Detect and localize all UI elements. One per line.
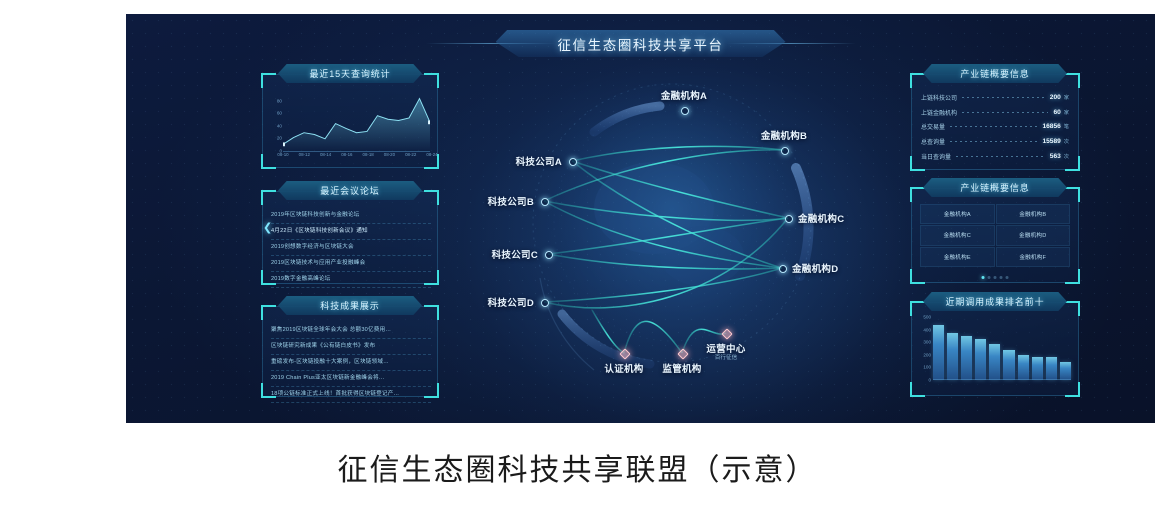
chain-summary-rows: 上链科技公司200家上链金融机构60家总交易量16856笔总查询量15589次当… bbox=[921, 90, 1069, 164]
network-node-label: 科技公司D bbox=[488, 295, 534, 309]
panel-title-recent-forums: 最近会议论坛 bbox=[278, 181, 422, 200]
summary-row: 总查询量15589次 bbox=[921, 135, 1069, 148]
bar-5 bbox=[989, 344, 1000, 380]
network-node-sublabel: 百行征信 bbox=[715, 353, 737, 361]
forum-list: 2019年区块链科技创新与金融论坛4月22日《区块链科技创新会议》通知2019创… bbox=[271, 208, 431, 279]
chain-member-cell-2[interactable]: 金融机构B bbox=[996, 204, 1071, 224]
pagination-dot-4[interactable] bbox=[1000, 276, 1003, 279]
bar-chart: 0100200300400500 bbox=[917, 317, 1073, 391]
summary-row: 总交易量16856笔 bbox=[921, 120, 1069, 133]
summary-row-unit: 家 bbox=[1064, 109, 1069, 116]
y-tick-label: 20 bbox=[277, 136, 282, 141]
summary-row-unit: 家 bbox=[1064, 94, 1069, 101]
line-chart-plot bbox=[283, 90, 430, 151]
x-tick-label: 08-20 bbox=[384, 152, 395, 157]
corner-bracket-icon bbox=[424, 305, 439, 320]
summary-row-unit: 笔 bbox=[1064, 123, 1069, 130]
network-node-label: 认证机构 bbox=[604, 361, 643, 375]
x-tick-label: 08-14 bbox=[320, 152, 331, 157]
network-node-label: 科技公司C bbox=[492, 247, 538, 261]
y-tick-label: 60 bbox=[277, 111, 282, 116]
bar-chart-plot bbox=[933, 320, 1071, 380]
y-tick-label: 200 bbox=[923, 352, 931, 357]
panel-top-ten-ranking: 近期调用成果排名前十 0100200300400500 bbox=[911, 302, 1079, 396]
list-item[interactable]: 2019数字金融高峰论坛 bbox=[271, 272, 431, 288]
leader-dots bbox=[962, 112, 1048, 113]
x-tick-label: 08-24 bbox=[426, 152, 437, 157]
network-graph-svg bbox=[444, 48, 904, 408]
corner-bracket-icon bbox=[910, 187, 925, 202]
y-tick-label: 400 bbox=[923, 327, 931, 332]
y-tick-label: 80 bbox=[277, 98, 282, 103]
network-graph: 金融机构A金融机构B科技公司A科技公司B科技公司C科技公司D金融机构C金融机构D… bbox=[444, 48, 904, 408]
x-tick-label: 08-16 bbox=[341, 152, 352, 157]
bar-6 bbox=[1003, 350, 1014, 380]
list-item[interactable]: 重磅发布-区块链投融十大案例，区块链领域… bbox=[271, 355, 431, 371]
network-node-label: 科技公司B bbox=[488, 194, 534, 208]
list-item[interactable]: 2019年区块链科技创新与金融论坛 bbox=[271, 208, 431, 224]
dashboard-canvas: 征信生态圈科技共享平台 bbox=[126, 14, 1155, 423]
list-item[interactable]: 区块链研究新成果《公有链白皮书》发布 bbox=[271, 339, 431, 355]
summary-row-value: 15589 bbox=[1042, 138, 1060, 145]
bar-3 bbox=[961, 336, 972, 380]
node-marker-icon bbox=[569, 158, 577, 166]
pagination-dot-2[interactable] bbox=[988, 276, 991, 279]
leader-dots bbox=[962, 97, 1045, 98]
line-chart-endpoint bbox=[283, 142, 285, 146]
summary-row-label: 上链科技公司 bbox=[921, 93, 957, 102]
list-item[interactable]: 2019区块链技术与应用产业投融峰会 bbox=[271, 256, 431, 272]
list-item[interactable]: 聚焦2019区块链全球年会大会 总额30亿费用… bbox=[271, 323, 431, 339]
x-tick-label: 08-22 bbox=[405, 152, 416, 157]
panel-title-chain-members: 产业链概要信息 bbox=[923, 178, 1067, 197]
line-chart-y-axis: 020406080 bbox=[268, 88, 283, 151]
bar-10 bbox=[1060, 362, 1071, 380]
node-marker-icon bbox=[681, 107, 689, 115]
leader-dots bbox=[956, 156, 1045, 157]
corner-bracket-icon bbox=[261, 73, 276, 88]
figure-caption-row: 征信生态圈科技共享联盟（示意） bbox=[0, 432, 1155, 502]
corner-bracket-icon bbox=[1065, 269, 1080, 284]
network-node-label: 金融机构C bbox=[798, 211, 844, 225]
list-item[interactable]: 2019创想数字经济与区块链大会 bbox=[271, 240, 431, 256]
tech-list: 聚焦2019区块链全球年会大会 总额30亿费用…区块链研究新成果《公有链白皮书》… bbox=[271, 323, 431, 392]
corner-bracket-icon bbox=[910, 73, 925, 88]
network-node-label: 金融机构A bbox=[661, 88, 707, 102]
bar-4 bbox=[975, 339, 986, 380]
node-marker-icon bbox=[541, 198, 549, 206]
bar-2 bbox=[947, 333, 958, 380]
node-marker-icon bbox=[779, 265, 787, 273]
leader-dots bbox=[950, 141, 1037, 142]
list-item[interactable]: 18项公链标准正式上线！首批获得区块链登记产… bbox=[271, 387, 431, 403]
summary-row-value: 16856 bbox=[1042, 123, 1060, 130]
summary-row: 上链科技公司200家 bbox=[921, 91, 1069, 104]
network-node-label: 金融机构D bbox=[792, 261, 838, 275]
line-chart-svg bbox=[283, 90, 430, 151]
bar-chart-y-axis: 0100200300400500 bbox=[917, 317, 932, 380]
pagination-dot-1[interactable] bbox=[982, 276, 985, 279]
corner-bracket-icon bbox=[261, 305, 276, 320]
line-chart-endpoint bbox=[428, 120, 430, 124]
line-chart-area bbox=[283, 99, 430, 151]
line-chart: 020406080 bbox=[268, 88, 432, 164]
corner-bracket-icon bbox=[424, 73, 439, 88]
leader-dots bbox=[950, 126, 1037, 127]
y-tick-label: 40 bbox=[277, 123, 282, 128]
corner-bracket-icon bbox=[910, 269, 925, 284]
grid-pagination[interactable] bbox=[982, 276, 1009, 279]
pagination-dot-3[interactable] bbox=[994, 276, 997, 279]
summary-row-unit: 次 bbox=[1064, 138, 1069, 145]
panel-chain-members: 产业链概要信息 金融机构A金融机构B金融机构C金融机构D金融机构E金融机构F bbox=[911, 188, 1079, 283]
bar-9 bbox=[1046, 357, 1057, 380]
summary-row-value: 563 bbox=[1050, 153, 1061, 160]
bar-8 bbox=[1032, 357, 1043, 380]
bar-1 bbox=[933, 325, 944, 380]
node-marker-icon bbox=[545, 251, 553, 259]
node-marker-icon bbox=[785, 215, 793, 223]
pagination-dot-5[interactable] bbox=[1006, 276, 1009, 279]
panel-title-top-ten-ranking: 近期调用成果排名前十 bbox=[923, 292, 1067, 311]
line-chart-x-axis: 08-1008-1208-1408-1608-1808-2008-2208-24 bbox=[283, 151, 432, 163]
panel-chain-summary: 产业链概要信息 上链科技公司200家上链金融机构60家总交易量16856笔总查询… bbox=[911, 74, 1079, 170]
network-node-label: 科技公司A bbox=[516, 154, 562, 168]
summary-row: 当日查询量563次 bbox=[921, 150, 1069, 163]
summary-row-label: 总查询量 bbox=[921, 137, 945, 146]
summary-row-label: 总交易量 bbox=[921, 122, 945, 131]
bar-7 bbox=[1018, 355, 1029, 380]
node-marker-icon bbox=[781, 147, 789, 155]
panel-title-query-statistics: 最近15天查询统计 bbox=[278, 64, 422, 83]
chain-member-cell-4[interactable]: 金融机构D bbox=[996, 225, 1071, 245]
panel-query-statistics: 最近15天查询统计 020406080 bbox=[262, 74, 438, 168]
y-tick-label: 100 bbox=[923, 365, 931, 370]
list-item[interactable]: 2019 Chain Plus亚太区块链新金融峰会将… bbox=[271, 371, 431, 387]
summary-row-value: 200 bbox=[1050, 94, 1061, 101]
corner-bracket-icon bbox=[1065, 187, 1080, 202]
figure-caption: 征信生态圈科技共享联盟（示意） bbox=[338, 445, 818, 489]
y-tick-label: 300 bbox=[923, 340, 931, 345]
summary-row-unit: 次 bbox=[1064, 153, 1069, 160]
corner-bracket-icon bbox=[1065, 73, 1080, 88]
summary-row-label: 上链金融机构 bbox=[921, 108, 957, 117]
network-node-label: 金融机构B bbox=[761, 128, 807, 142]
list-item[interactable]: 4月22日《区块链科技创新会议》通知 bbox=[271, 224, 431, 240]
chain-member-cell-6[interactable]: 金融机构F bbox=[996, 247, 1071, 267]
node-marker-icon bbox=[541, 299, 549, 307]
panel-recent-forums: 最近会议论坛 ❮ 2019年区块链科技创新与金融论坛4月22日《区块链科技创新会… bbox=[262, 191, 438, 284]
chain-member-grid: 金融机构A金融机构B金融机构C金融机构D金融机构E金融机构F bbox=[920, 204, 1070, 267]
summary-row-label: 当日查询量 bbox=[921, 152, 951, 161]
network-node-label: 监管机构 bbox=[662, 361, 701, 375]
panel-tech-achievements: 科技成果展示 聚焦2019区块链全球年会大会 总额30亿费用…区块链研究新成果《… bbox=[262, 306, 438, 397]
summary-row: 上链金融机构60家 bbox=[921, 106, 1069, 119]
bar-chart-baseline bbox=[933, 379, 1071, 380]
x-tick-label: 08-18 bbox=[363, 152, 374, 157]
corner-bracket-icon bbox=[424, 190, 439, 205]
y-tick-label: 0 bbox=[928, 378, 931, 383]
x-tick-label: 08-10 bbox=[277, 152, 288, 157]
x-tick-label: 08-12 bbox=[299, 152, 310, 157]
chain-member-cell-5[interactable]: 金融机构E bbox=[920, 247, 995, 267]
panel-title-tech-achievements: 科技成果展示 bbox=[278, 296, 422, 315]
screenshot-root: 征信生态圈科技共享平台 bbox=[0, 0, 1155, 510]
corner-bracket-icon bbox=[261, 190, 276, 205]
y-tick-label: 500 bbox=[923, 315, 931, 320]
panel-title-chain-summary: 产业链概要信息 bbox=[923, 64, 1067, 83]
summary-row-value: 60 bbox=[1053, 109, 1060, 116]
chain-member-cell-3[interactable]: 金融机构C bbox=[920, 225, 995, 245]
corner-bracket-icon bbox=[1065, 301, 1080, 316]
chain-member-cell-1[interactable]: 金融机构A bbox=[920, 204, 995, 224]
